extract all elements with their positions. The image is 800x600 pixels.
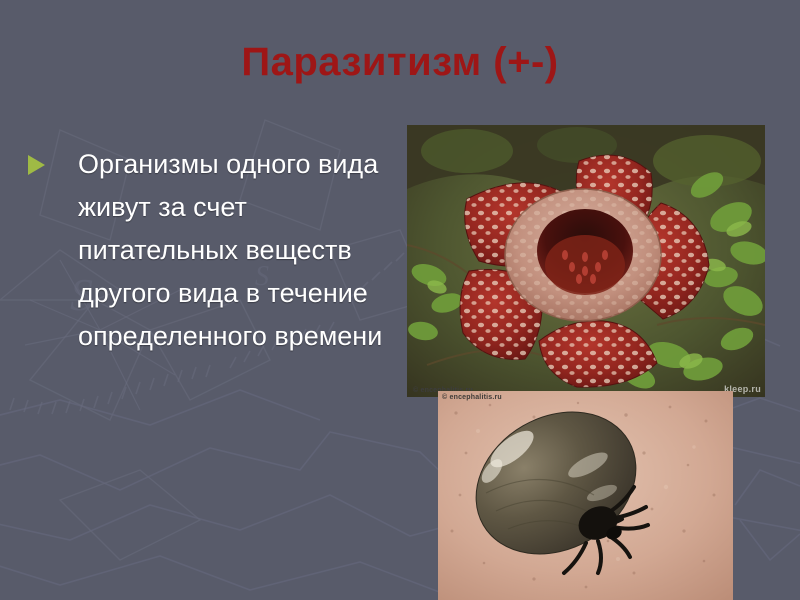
image-rafflesia-flower: © encephalitis.ru kleep.ru bbox=[407, 125, 765, 397]
body-text-block: Организмы одного вида живут за счет пита… bbox=[28, 143, 388, 358]
page-title: Паразитизм (+-) bbox=[0, 38, 800, 86]
presentation-slide: S S Паразитизм (+-) Организмы одного вид… bbox=[0, 0, 800, 600]
triangle-right-bullet-icon bbox=[28, 155, 45, 175]
image-engorged-tick: © encephalitis.ru bbox=[438, 391, 733, 600]
tick-illustration bbox=[438, 391, 733, 600]
list-item-label: Организмы одного вида живут за счет пита… bbox=[78, 143, 388, 358]
list-item: Организмы одного вида живут за счет пита… bbox=[28, 143, 388, 358]
rafflesia-illustration bbox=[407, 125, 765, 397]
image-watermark: © encephalitis.ru bbox=[442, 394, 502, 401]
